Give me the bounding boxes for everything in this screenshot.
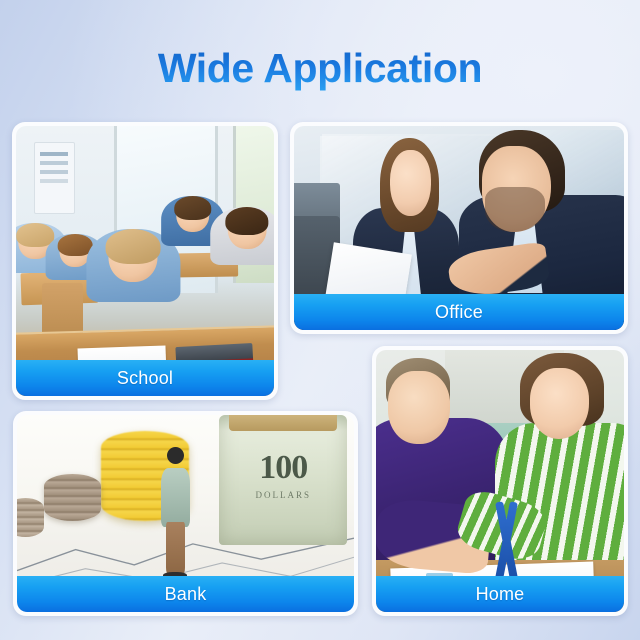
application-card-home[interactable]: Home (372, 346, 628, 616)
figurine-head (167, 447, 185, 465)
card-inner-home: Home (376, 350, 624, 612)
application-card-office[interactable]: Office (290, 122, 628, 334)
father-face (388, 371, 450, 444)
banknote-band (229, 415, 337, 431)
card-label-bank: Bank (17, 576, 354, 612)
card-inner-school: School (16, 126, 274, 396)
page-title: Wide Application (0, 44, 640, 92)
application-card-school[interactable]: School (12, 122, 278, 400)
card-label-office: Office (294, 294, 624, 330)
student-hair (106, 229, 161, 264)
card-inner-bank: .|..|. .|..|. .|..|. .|..|. .|..|. .|. 1… (17, 415, 354, 612)
classroom-poster (34, 142, 75, 214)
school-photo (16, 126, 274, 396)
banknote-value: 100 (227, 449, 340, 487)
businesswoman-face (390, 150, 431, 215)
student-hair (174, 196, 212, 220)
card-label-school: School (16, 360, 274, 396)
student-hair (17, 223, 55, 247)
card-inner-office: Office (294, 126, 624, 330)
card-label-home: Home (376, 576, 624, 612)
application-card-bank[interactable]: .|..|. .|..|. .|..|. .|..|. .|..|. .|. 1… (13, 411, 358, 616)
hundred-dollar-bill-roll: 100 DOLLARS (219, 415, 347, 545)
silver-coin-stack-small (17, 498, 44, 537)
student-hair (225, 207, 268, 235)
businessman-figurine (159, 447, 193, 581)
silver-coin-stack (44, 474, 101, 521)
home-photo (376, 350, 624, 612)
figurine-legs (166, 522, 185, 576)
blue-compass (490, 502, 525, 581)
wide-application-banner: Wide Application (0, 0, 640, 640)
banknote-text: DOLLARS (232, 490, 334, 500)
figurine-torso (161, 468, 189, 527)
daughter-face (530, 368, 590, 439)
